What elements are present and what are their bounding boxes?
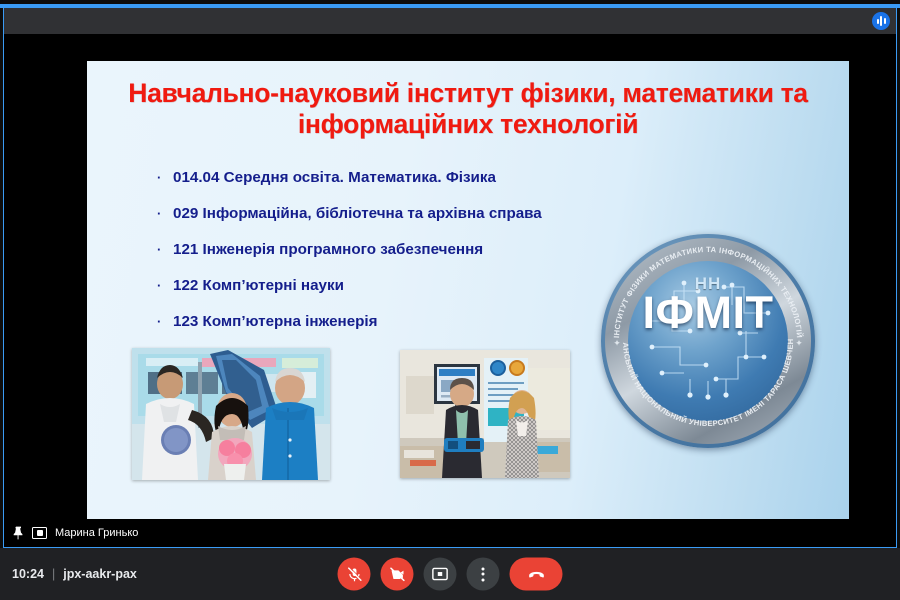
institute-logo: ІНСТИТУТ ФІЗИКИ МАТЕМАТИКИ ТА ІНФОРМАЦІЙ… — [601, 234, 815, 448]
call-controls — [338, 558, 563, 591]
bullet-text: 122 Комп’ютерні науки — [173, 277, 344, 294]
bullet-marker-icon: · — [157, 313, 173, 330]
ring-star-right-icon: ✦ — [795, 338, 803, 348]
list-item: · 121 Інженерія програмного забезпечення — [157, 241, 627, 258]
list-item: · 029 Інформаційна, бібліотечна та архів… — [157, 205, 627, 222]
list-item: · 014.04 Середня освіта. Математика. Фіз… — [157, 169, 627, 186]
end-call-button[interactable] — [510, 558, 563, 591]
list-item: · 123 Комп’ютерна інженерія — [157, 313, 627, 330]
slide-bullet-list: · 014.04 Середня освіта. Математика. Фіз… — [157, 169, 627, 349]
mic-muted-icon — [345, 565, 363, 583]
pin-icon[interactable] — [13, 526, 24, 540]
bullet-text: 121 Інженерія програмного забезпечення — [173, 241, 483, 258]
bullet-marker-icon: · — [157, 241, 173, 258]
bullet-text: 014.04 Середня освіта. Математика. Фізик… — [173, 169, 496, 186]
meeting-code[interactable]: jpx-aakr-pax — [63, 567, 137, 581]
group-photo-flag-image — [132, 348, 330, 480]
meeting-header-bar — [3, 8, 897, 34]
presenter-name-strip: Марина Гринько — [13, 526, 138, 540]
bullet-marker-icon: · — [157, 169, 173, 186]
presenter-name: Марина Гринько — [55, 527, 138, 539]
meeting-time: 10:24 — [12, 567, 44, 581]
bullet-marker-icon: · — [157, 205, 173, 222]
meeting-controls-bar: 10:24 | jpx-aakr-pax — [0, 548, 900, 600]
meeting-window: Навчально-науковий інститут фізики, мате… — [0, 0, 900, 600]
bullet-text: 029 Інформаційна, бібліотечна та архівна… — [173, 205, 542, 222]
meeting-info-divider: | — [52, 567, 55, 581]
microphone-off-button[interactable] — [338, 558, 371, 591]
classroom-award-photo-image — [400, 350, 570, 478]
slide-photo-2 — [400, 350, 570, 478]
camera-off-icon — [388, 565, 406, 583]
logo-abbreviation: ІФМІТ — [601, 287, 815, 339]
phone-hangup-icon — [525, 563, 547, 585]
stage-letterbox: Навчально-науковий інститут фізики, мате… — [4, 34, 896, 547]
meeting-info: 10:24 | jpx-aakr-pax — [12, 567, 137, 581]
audio-levels-icon[interactable] — [872, 12, 890, 30]
camera-off-button[interactable] — [381, 558, 414, 591]
present-screen-icon — [431, 565, 450, 584]
logo-ring-text: ІНСТИТУТ ФІЗИКИ МАТЕМАТИКИ ТА ІНФОРМАЦІЙ… — [601, 234, 815, 448]
more-options-button[interactable] — [467, 558, 500, 591]
present-screen-button[interactable] — [424, 558, 457, 591]
ring-star-left-icon: ✦ — [613, 338, 621, 348]
slide-title: Навчально-науковий інститут фізики, мате… — [107, 78, 829, 140]
slide-photo-1 — [132, 348, 330, 480]
bullet-text: 123 Комп’ютерна інженерія — [173, 313, 378, 330]
shared-slide: Навчально-науковий інститут фізики, мате… — [87, 61, 849, 519]
presenter-stage[interactable]: Навчально-науковий інститут фізики, мате… — [3, 34, 897, 548]
list-item: · 122 Комп’ютерні науки — [157, 277, 627, 294]
more-vertical-icon — [482, 567, 485, 581]
present-screen-icon — [32, 527, 47, 539]
bullet-marker-icon: · — [157, 277, 173, 294]
